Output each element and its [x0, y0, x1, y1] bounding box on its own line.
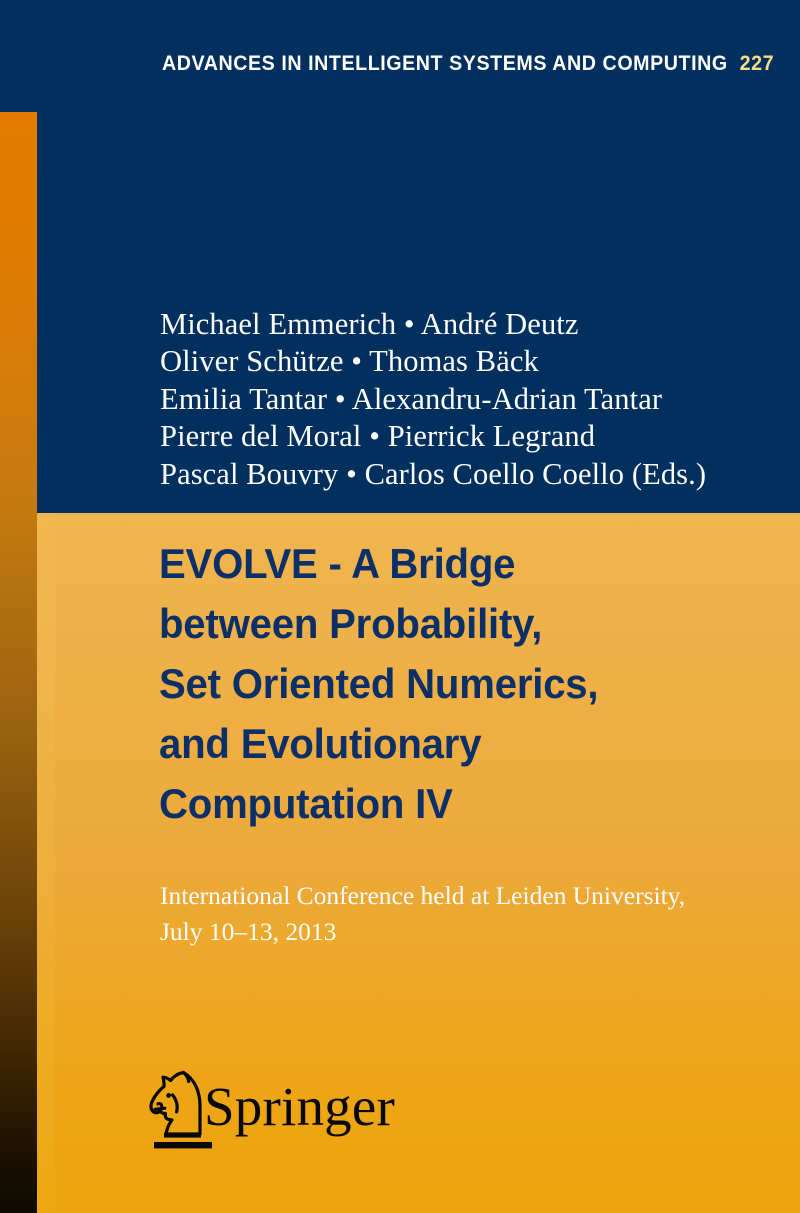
title-line: and Evolutionary [159, 714, 751, 774]
title-line: EVOLVE - A Bridge [159, 534, 751, 594]
knight-eye-icon [166, 1093, 171, 1098]
editor-line: Emilia Tantar • Alexandru-Adrian Tantar [160, 381, 790, 418]
publisher-logo: Springer [142, 1062, 372, 1158]
editor-line: Oliver Schütze • Thomas Bäck [160, 343, 790, 380]
knight-collar [164, 1133, 201, 1138]
title-line: Set Oriented Numerics, [159, 654, 751, 714]
title-line: between Probability, [159, 594, 751, 654]
springer-wordmark: Springer [204, 1074, 395, 1140]
editor-line: Pascal Bouvry • Carlos Coello Coello (Ed… [160, 456, 790, 493]
orange-spine-strip [0, 112, 37, 1213]
subtitle-line: International Conference held at Leiden … [160, 878, 780, 914]
gold-accent-stripe [37, 513, 55, 1213]
series-volume-number: 227 [740, 51, 774, 75]
book-subtitle: International Conference held at Leiden … [160, 878, 780, 950]
book-title: EVOLVE - A Bridge between Probability, S… [159, 534, 751, 834]
book-cover: ADVANCES IN INTELLIGENT SYSTEMS AND COMP… [0, 0, 800, 1213]
knight-base-bar [154, 1142, 212, 1148]
series-title: ADVANCES IN INTELLIGENT SYSTEMS AND COMP… [162, 51, 728, 75]
editor-line: Pierre del Moral • Pierrick Legrand [160, 418, 790, 455]
title-line: Computation IV [159, 774, 751, 834]
editors-block: Michael Emmerich • André Deutz Oliver Sc… [160, 306, 790, 493]
editor-line: Michael Emmerich • André Deutz [160, 306, 790, 343]
series-line: ADVANCES IN INTELLIGENT SYSTEMS AND COMP… [162, 51, 729, 76]
subtitle-line: July 10–13, 2013 [160, 914, 780, 950]
